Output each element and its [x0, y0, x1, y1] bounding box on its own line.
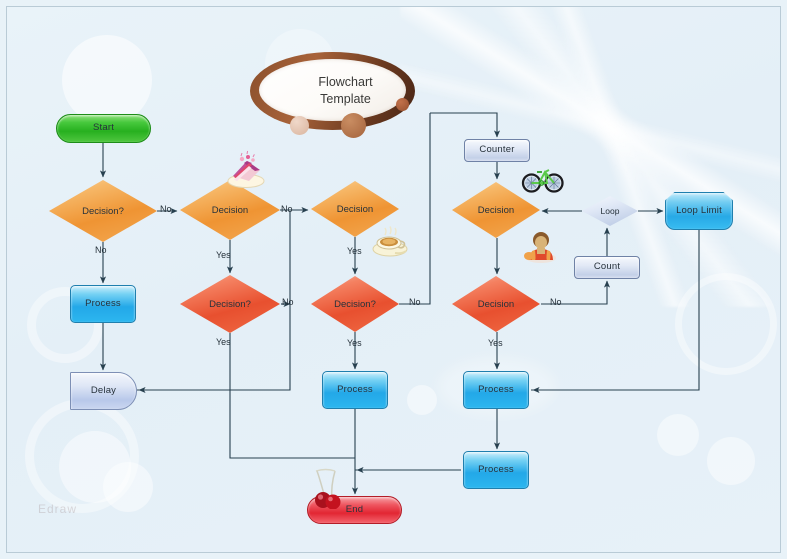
node-decision-1[interactable]: Decision? [49, 180, 157, 242]
node-label: Loop Limit [676, 206, 722, 216]
node-counter[interactable]: Counter [464, 139, 530, 162]
page-title-line2: Template [320, 91, 371, 108]
edge-label-no: No [282, 297, 294, 307]
node-label: Decision [452, 276, 540, 332]
node-label: Decision [180, 180, 280, 240]
node-label: Process [478, 465, 514, 475]
node-loop[interactable]: Loop [582, 196, 638, 226]
edge-label-yes: Yes [347, 338, 362, 348]
edge-label-no: No [95, 245, 107, 255]
node-process-2[interactable]: Process [322, 371, 388, 409]
edge-label-yes: Yes [216, 337, 231, 347]
node-label: Decision? [311, 276, 399, 332]
node-process-3[interactable]: Process [463, 371, 529, 409]
node-label: Decision? [49, 180, 157, 242]
bokeh-circle [707, 437, 755, 485]
node-label: Delay [91, 386, 116, 396]
node-label: Process [478, 385, 514, 395]
node-loop-limit[interactable]: Loop Limit [665, 192, 733, 230]
node-end[interactable]: End [307, 496, 402, 524]
bokeh-circle [62, 35, 152, 125]
bokeh-ring [675, 273, 777, 375]
edge-label-yes: Yes [488, 338, 503, 348]
node-decision-3[interactable]: Decision? [180, 275, 280, 333]
node-decision-5[interactable]: Decision? [311, 276, 399, 332]
page-title: Flowchart Template [250, 52, 415, 130]
node-label: Count [594, 262, 620, 272]
bokeh-ring [25, 399, 139, 513]
page-title-line1: Flowchart [318, 74, 372, 91]
flowchart-canvas: Flowchart Template Start Decision? Proce… [0, 0, 787, 559]
diagram-title-ellipse: Flowchart Template [250, 52, 415, 130]
watermark: Edraw [38, 502, 77, 516]
edge-label-no: No [409, 297, 421, 307]
edge-label-no: No [550, 297, 562, 307]
node-decision-7[interactable]: Decision [452, 276, 540, 332]
edge-label-no: No [281, 204, 293, 214]
node-process-1[interactable]: Process [70, 285, 136, 323]
node-label: Start [93, 123, 114, 133]
node-label: Process [337, 385, 373, 395]
node-delay[interactable]: Delay [70, 372, 137, 410]
bokeh-circle [59, 431, 131, 503]
node-label: Decision [311, 181, 399, 237]
edge-label-yes: Yes [347, 246, 362, 256]
node-start[interactable]: Start [56, 114, 151, 143]
node-label: Process [85, 299, 121, 309]
node-decision-6[interactable]: Decision [452, 182, 540, 238]
node-label: Decision [452, 182, 540, 238]
node-label: Counter [479, 145, 514, 155]
node-count[interactable]: Count [574, 256, 640, 279]
node-decision-2[interactable]: Decision [180, 180, 280, 240]
node-process-4[interactable]: Process [463, 451, 529, 489]
node-label: Loop [582, 196, 638, 226]
edge-label-no: No [160, 204, 172, 214]
bokeh-circle [103, 462, 153, 512]
node-decision-4[interactable]: Decision [311, 181, 399, 237]
node-label: End [346, 505, 364, 515]
edge-label-yes: Yes [216, 250, 231, 260]
bokeh-circle [407, 385, 437, 415]
node-label: Decision? [180, 275, 280, 333]
bokeh-circle [657, 414, 699, 456]
